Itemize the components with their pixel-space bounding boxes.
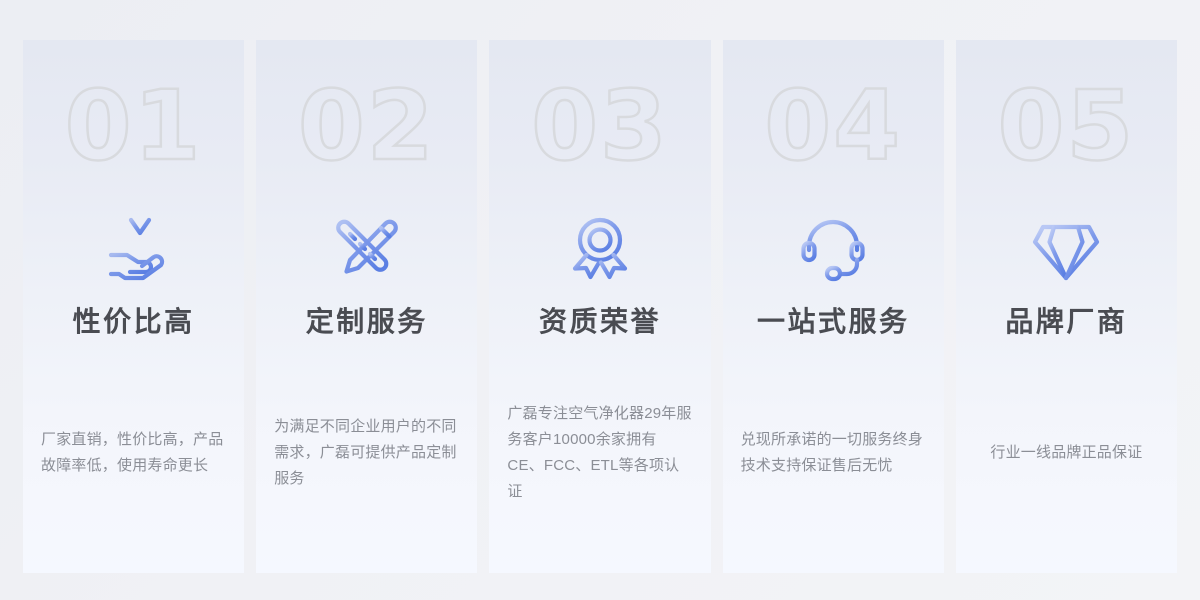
card-description: 广磊专注空气净化器29年服务客户10000余家拥有CE、FCC、ETL等各项认证 (507, 401, 692, 505)
card-description-area: 行业一线品牌正品保证 (956, 340, 1177, 573)
feature-card-row: 01 (0, 0, 1200, 600)
diamond-icon (1029, 212, 1103, 286)
feature-card-05[interactable]: 05 (956, 40, 1177, 573)
card-title: 一站式服务 (757, 300, 910, 340)
pen-ruler-cross-icon (330, 212, 404, 286)
feature-card-04[interactable]: 04 (723, 40, 944, 573)
card-title: 资质荣誉 (539, 300, 661, 340)
card-description: 厂家直销，性价比高，产品故障率低，使用寿命更长 (41, 427, 226, 479)
headset-icon (796, 212, 870, 286)
card-number-badge: 04 (764, 76, 902, 176)
card-title: 品牌厂商 (1005, 300, 1127, 340)
card-number-badge: 05 (998, 76, 1136, 176)
card-title: 定制服务 (306, 300, 428, 340)
card-number-badge: 03 (531, 76, 669, 176)
feature-highlights-section: 01 (0, 0, 1200, 600)
card-description-area: 厂家直销，性价比高，产品故障率低，使用寿命更长 (23, 340, 244, 573)
feature-card-02[interactable]: 02 (256, 40, 477, 573)
card-description: 行业一线品牌正品保证 (974, 440, 1159, 466)
card-title: 性价比高 (73, 300, 195, 340)
card-number-badge: 02 (298, 76, 436, 176)
award-ribbon-icon (563, 212, 637, 286)
card-description-area: 广磊专注空气净化器29年服务客户10000余家拥有CE、FCC、ETL等各项认证 (489, 340, 710, 573)
card-description: 兑现所承诺的一切服务终身技术支持保证售后无忧 (741, 427, 926, 479)
card-number-badge: 01 (65, 76, 203, 176)
card-description-area: 为满足不同企业用户的不同需求，广磊可提供产品定制服务 (256, 340, 477, 573)
card-description-area: 兑现所承诺的一切服务终身技术支持保证售后无忧 (723, 340, 944, 573)
hand-holding-yuan-icon (97, 212, 171, 286)
card-description: 为满足不同企业用户的不同需求，广磊可提供产品定制服务 (274, 414, 459, 492)
feature-card-03[interactable]: 03 (489, 40, 710, 573)
feature-card-01[interactable]: 01 (23, 40, 244, 573)
